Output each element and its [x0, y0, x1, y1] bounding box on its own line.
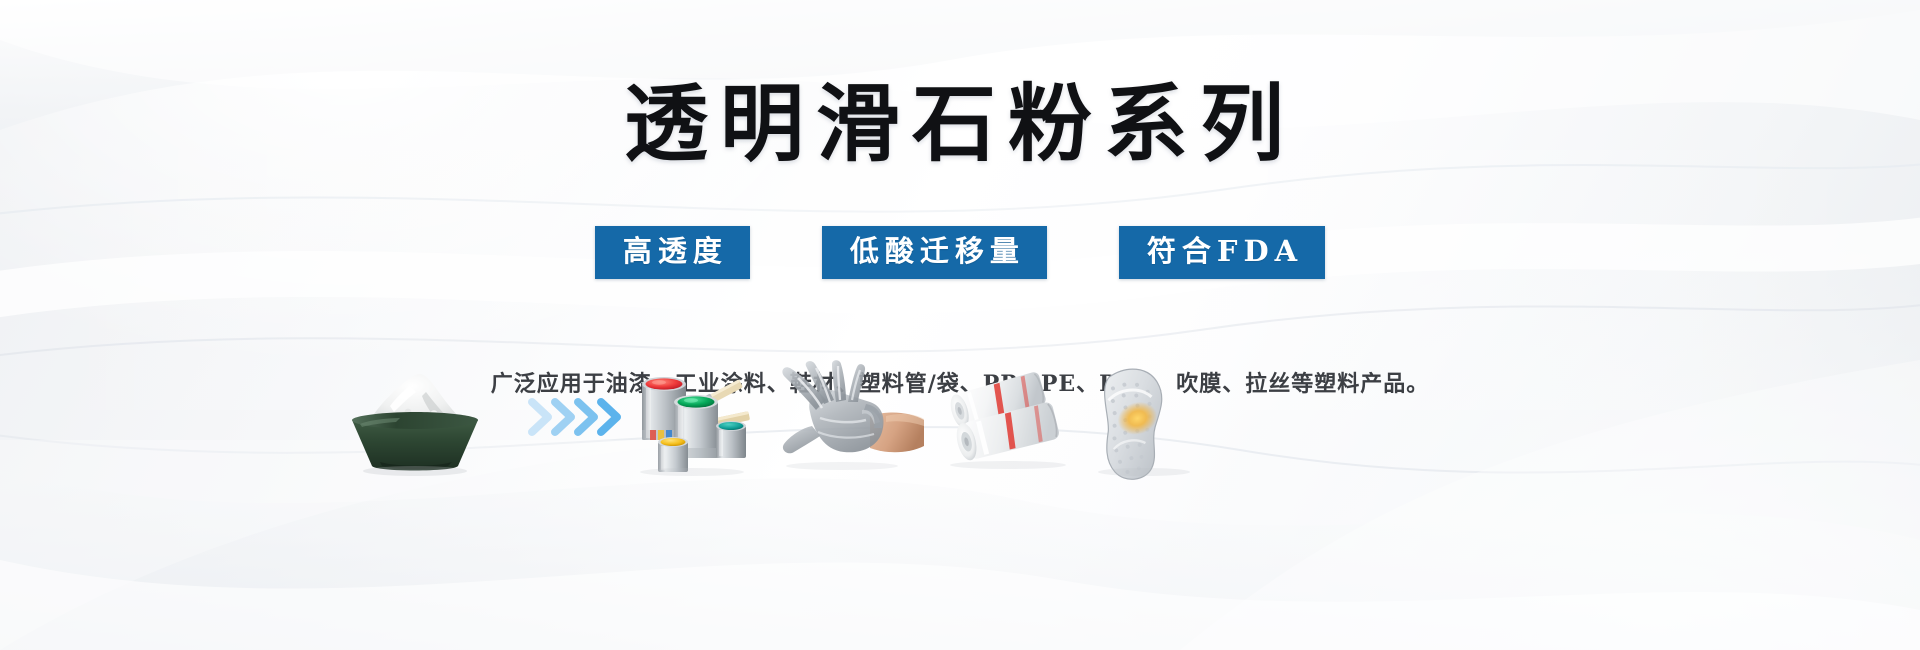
product-banner: 透明滑石粉系列 高透度 低酸迁移量 符合FDA 广泛应用于油漆、工业涂料、鞋材、…	[0, 0, 1920, 650]
badge-fda-compliant[interactable]: 符合FDA	[1119, 226, 1325, 279]
figure-gloved-hand	[766, 362, 926, 472]
feature-badge-list: 高透度 低酸迁移量 符合FDA	[0, 226, 1920, 279]
badge-high-transparency[interactable]: 高透度	[595, 226, 750, 279]
figure-talc-powder-bowl	[330, 362, 500, 477]
figure-film-rolls	[932, 366, 1077, 471]
figure-paint-cans	[630, 364, 760, 476]
figure-shoe-insole	[1080, 360, 1210, 478]
application-image-strip	[330, 352, 1230, 487]
badge-low-acid-migration[interactable]: 低酸迁移量	[822, 226, 1047, 279]
figure-process-arrows	[526, 394, 636, 440]
page-title: 透明滑石粉系列	[624, 82, 1296, 166]
title-container: 透明滑石粉系列	[0, 82, 1920, 166]
